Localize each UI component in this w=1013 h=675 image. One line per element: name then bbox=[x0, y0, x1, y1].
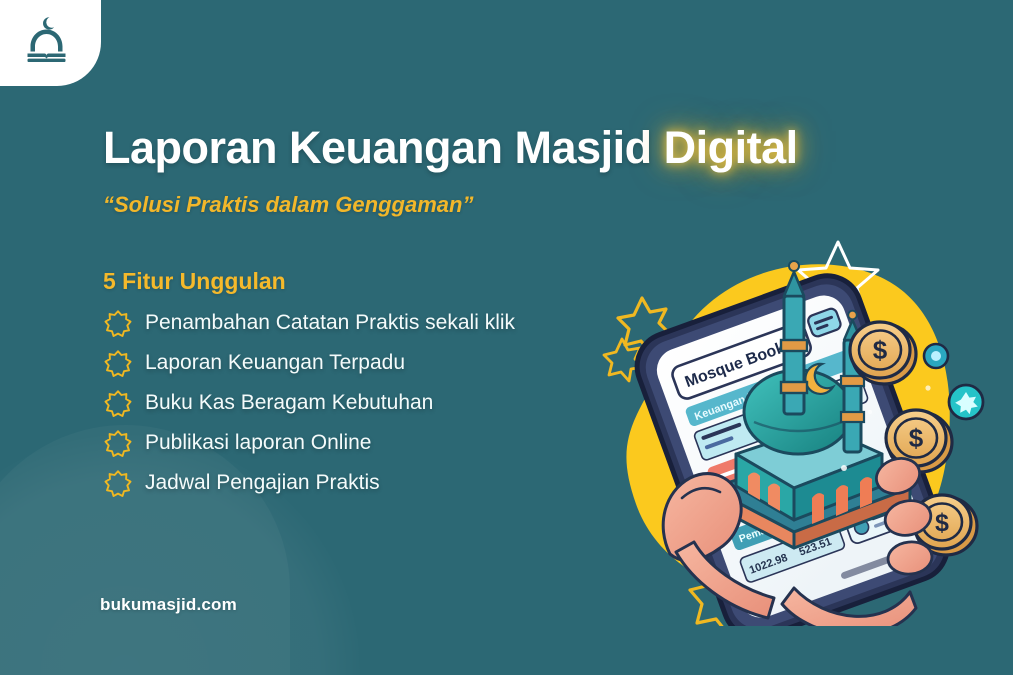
hand-holding-phone-with-mosque-illustration: Mosque Book Keuangan Masjid bbox=[598, 236, 998, 626]
feature-label: Laporan Keuangan Terpadu bbox=[145, 351, 405, 375]
eight-point-star-icon bbox=[103, 428, 133, 458]
list-item: Laporan Keuangan Terpadu bbox=[103, 343, 515, 383]
sparkle-dot bbox=[841, 465, 847, 471]
svg-text:$: $ bbox=[935, 509, 949, 537]
features-heading: 5 Fitur Unggulan bbox=[103, 268, 286, 295]
features-list: Penambahan Catatan Praktis sekali klik L… bbox=[103, 303, 515, 503]
badge-teal-icon bbox=[949, 385, 983, 419]
logo-plate bbox=[0, 0, 101, 86]
feature-label: Penambahan Catatan Praktis sekali klik bbox=[145, 311, 515, 335]
list-item: Buku Kas Beragam Kebutuhan bbox=[103, 383, 515, 423]
website-url: bukumasjid.com bbox=[100, 595, 237, 615]
mosque-arch-window bbox=[836, 485, 848, 516]
list-item: Jadwal Pengajian Praktis bbox=[103, 463, 515, 503]
eight-point-star-icon bbox=[103, 468, 133, 498]
feature-label: Jadwal Pengajian Praktis bbox=[145, 471, 380, 495]
mosque-book-logo-icon bbox=[19, 14, 74, 69]
svg-text:$: $ bbox=[873, 335, 888, 365]
dollar-coin-icon: $ bbox=[850, 322, 916, 384]
page-subtitle: “Solusi Praktis dalam Genggaman” bbox=[103, 192, 473, 218]
sparkle-dot bbox=[868, 410, 872, 414]
page-title-accent: Digital bbox=[664, 122, 798, 173]
svg-text:$: $ bbox=[909, 423, 924, 453]
list-item: Penambahan Catatan Praktis sekali klik bbox=[103, 303, 515, 343]
eight-point-star-icon bbox=[103, 388, 133, 418]
list-item: Publikasi laporan Online bbox=[103, 423, 515, 463]
feature-label: Buku Kas Beragam Kebutuhan bbox=[145, 391, 433, 415]
mosque-arch-window bbox=[860, 477, 872, 508]
mosque-arch-window bbox=[812, 493, 824, 524]
page-title: Laporan Keuangan Masjid Digital bbox=[103, 122, 798, 174]
badge-teal-icon bbox=[924, 344, 948, 368]
page-title-main: Laporan Keuangan Masjid bbox=[103, 122, 664, 173]
eight-point-star-icon bbox=[103, 348, 133, 378]
eight-point-star-icon bbox=[103, 308, 133, 338]
feature-label: Publikasi laporan Online bbox=[145, 431, 371, 455]
sparkle-dot bbox=[925, 385, 930, 390]
poster-canvas: Laporan Keuangan Masjid Digital “Solusi … bbox=[0, 0, 1013, 675]
